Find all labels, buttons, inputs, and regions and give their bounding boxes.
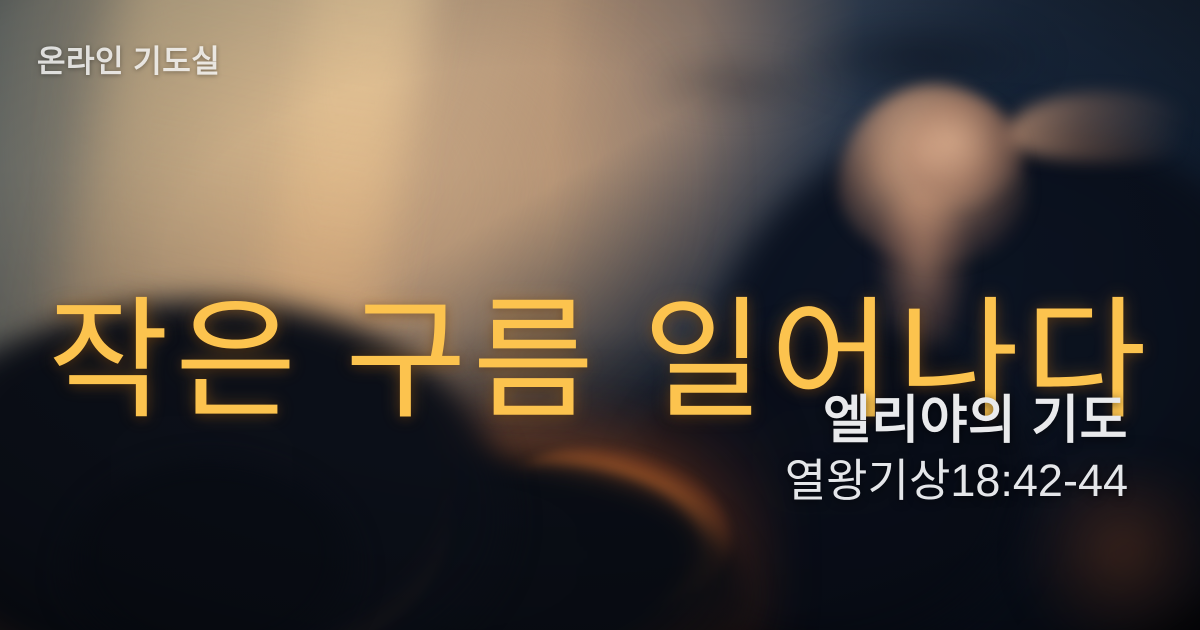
- subtitle-block: 엘리야의 기도 열왕기상18:42-44: [785, 392, 1128, 507]
- subtitle-heading: 엘리야의 기도: [785, 392, 1128, 450]
- text-layer: 온라인 기도실 작은 구름 일어나다 엘리야의 기도 열왕기상18:42-44: [0, 0, 1200, 630]
- brand-label: 온라인 기도실: [37, 36, 220, 81]
- scripture-reference: 열왕기상18:42-44: [785, 456, 1128, 506]
- poster-canvas: 온라인 기도실 작은 구름 일어나다 엘리야의 기도 열왕기상18:42-44: [0, 0, 1200, 630]
